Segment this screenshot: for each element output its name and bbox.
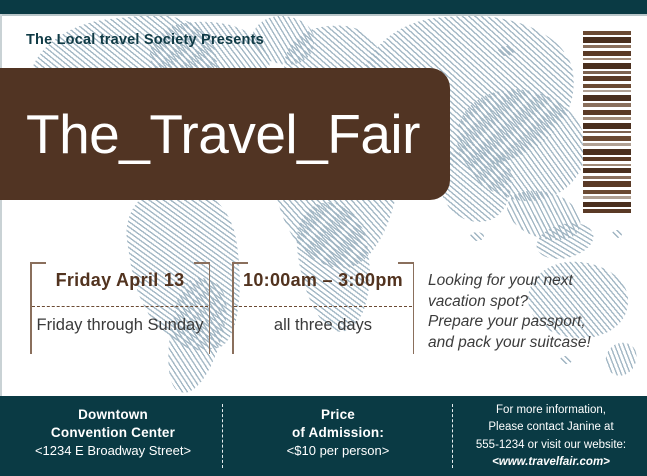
tagline: Looking for your next vacation spot? Pre… xyxy=(428,271,638,353)
venue-name-line-1: Downtown xyxy=(10,406,216,424)
tagline-line-2: vacation spot? xyxy=(428,292,638,313)
contact-website[interactable]: <www.travelfair.com> xyxy=(460,454,642,471)
map-speck xyxy=(470,232,484,241)
tagline-line-4: and pack your suitcase! xyxy=(428,333,638,354)
top-accent-band xyxy=(0,0,647,14)
venue-address: <1234 E Broadway Street> xyxy=(10,442,216,460)
map-speck xyxy=(560,356,572,364)
info-box-date: Friday April 13 Friday through Sunday xyxy=(30,262,210,354)
bracket-corner-top-left xyxy=(30,262,46,264)
bracket-corner-top-left xyxy=(232,262,248,264)
contact-phone: 555-1234 or visit our website: xyxy=(460,437,642,454)
presenter-line: The Local travel Society Presents xyxy=(26,32,264,48)
price-label-line-1: Price xyxy=(232,406,444,424)
title-banner: The_Travel_Fair xyxy=(0,68,450,200)
footer-separator xyxy=(452,404,453,468)
event-date: Friday April 13 xyxy=(30,270,210,291)
dashed-divider xyxy=(32,306,208,307)
price-label-line-2: of Admission: xyxy=(232,424,444,442)
event-hours-note: all three days xyxy=(232,316,414,335)
tagline-line-1: Looking for your next xyxy=(428,271,638,292)
tagline-line-3: Prepare your passport, xyxy=(428,312,638,333)
barcode xyxy=(583,28,631,221)
event-hours: 10:00am – 3:00pm xyxy=(232,270,414,291)
price-value: <$10 per person> xyxy=(232,442,444,460)
footer-bar: Downtown Convention Center <1234 E Broad… xyxy=(0,396,647,476)
contact-line-1: For more information, xyxy=(460,402,642,419)
event-date-range: Friday through Sunday xyxy=(30,316,210,335)
event-title: The_Travel_Fair xyxy=(26,107,420,162)
footer-separator xyxy=(222,404,223,468)
map-speck xyxy=(498,46,514,56)
contact-line-2: Please contact Janine at xyxy=(460,419,642,436)
dashed-divider xyxy=(234,306,412,307)
footer-contact: For more information, Please contact Jan… xyxy=(460,402,642,471)
map-speck xyxy=(612,230,622,238)
venue-name-line-2: Convention Center xyxy=(10,424,216,442)
info-box-time: 10:00am – 3:00pm all three days xyxy=(232,262,414,354)
ticket-flyer: The Local travel Society Presents The_Tr… xyxy=(0,0,647,476)
barcode-bar xyxy=(583,213,631,216)
footer-price: Price of Admission: <$10 per person> xyxy=(232,406,444,459)
footer-venue: Downtown Convention Center <1234 E Broad… xyxy=(10,406,216,459)
